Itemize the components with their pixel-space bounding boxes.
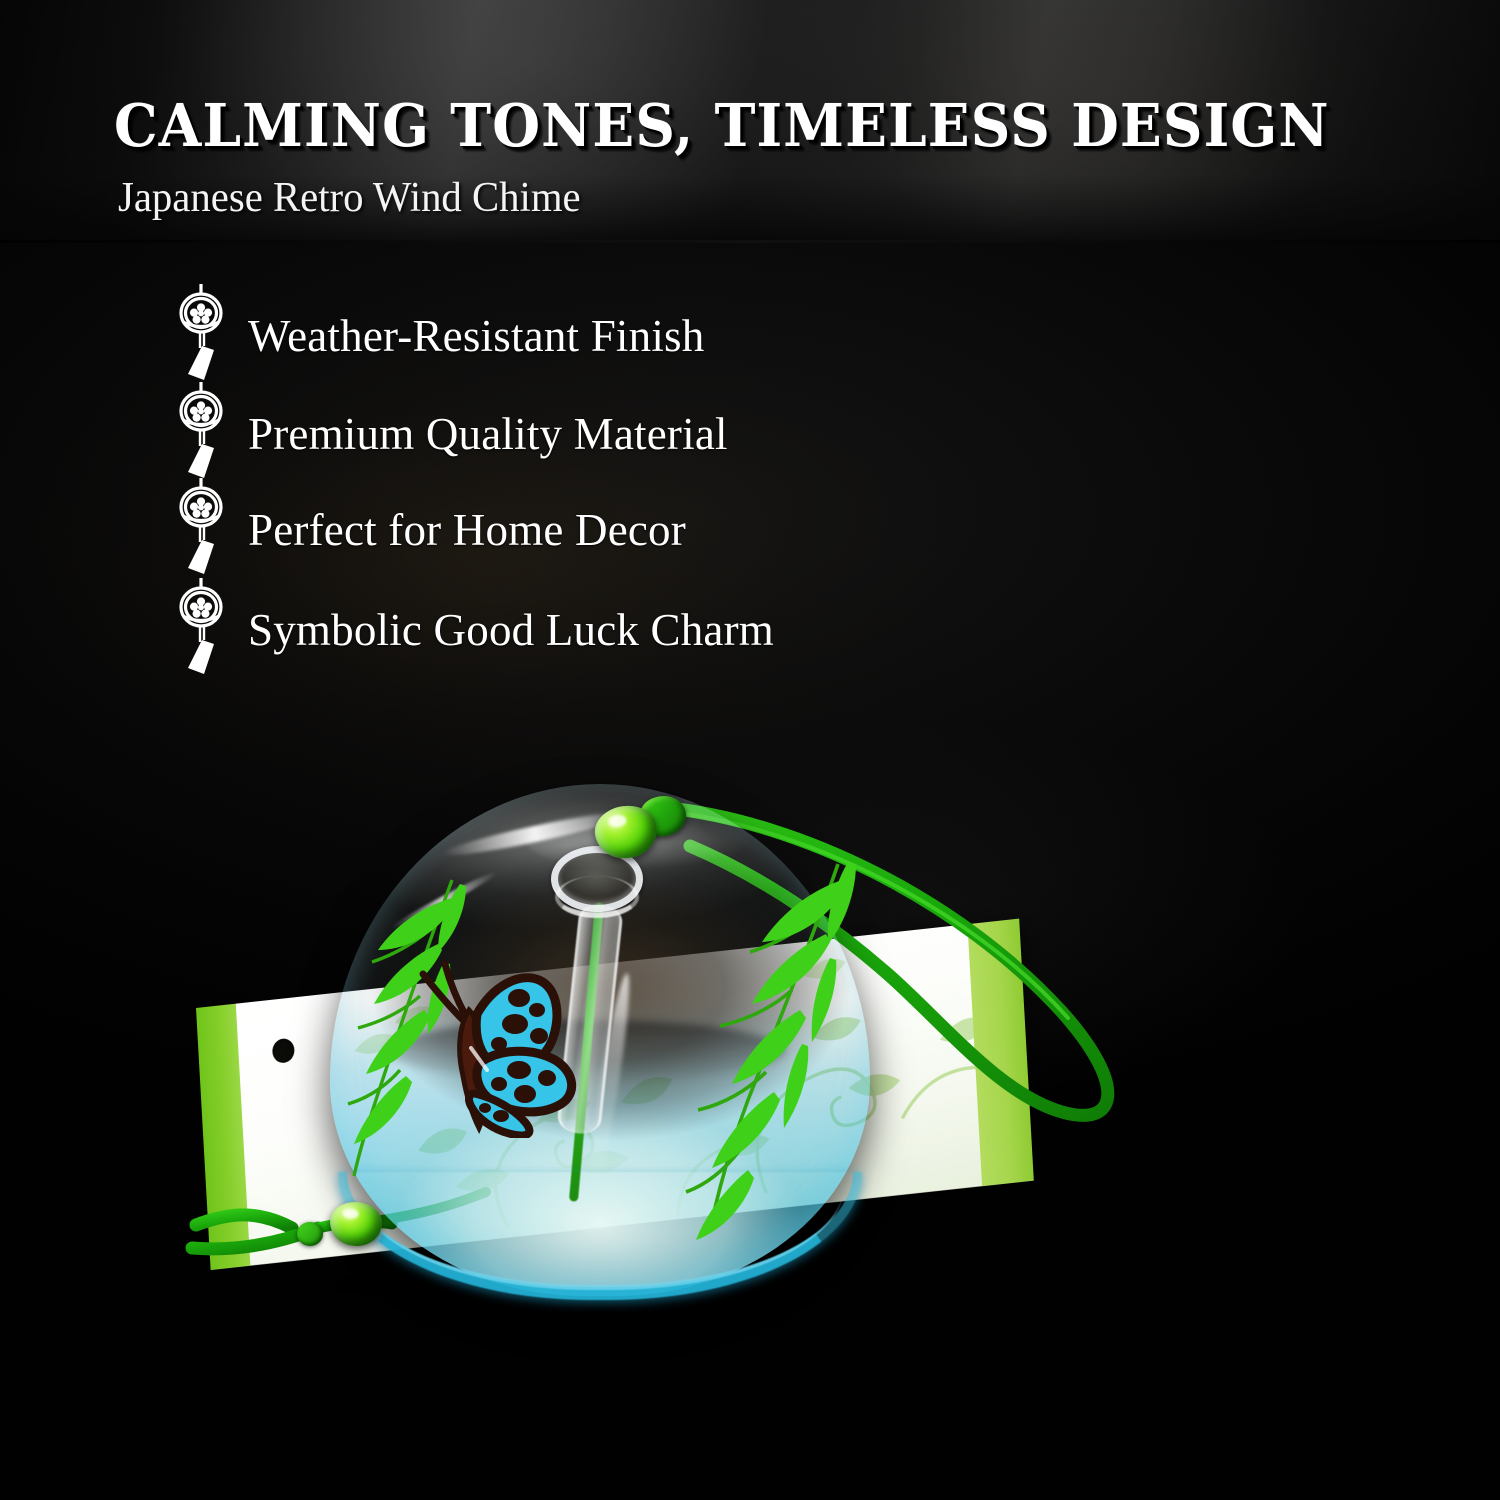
neck-lip (555, 876, 639, 918)
cord-knot-left (297, 1222, 323, 1246)
glass-dome (330, 784, 870, 1296)
product-photo (0, 0, 1500, 1500)
dome-rim-highlight (356, 1186, 844, 1290)
product-feature-poster: CALMING TONES, TIMELESS DESIGN Japanese … (0, 0, 1500, 1500)
butterfly-decal (415, 952, 597, 1138)
